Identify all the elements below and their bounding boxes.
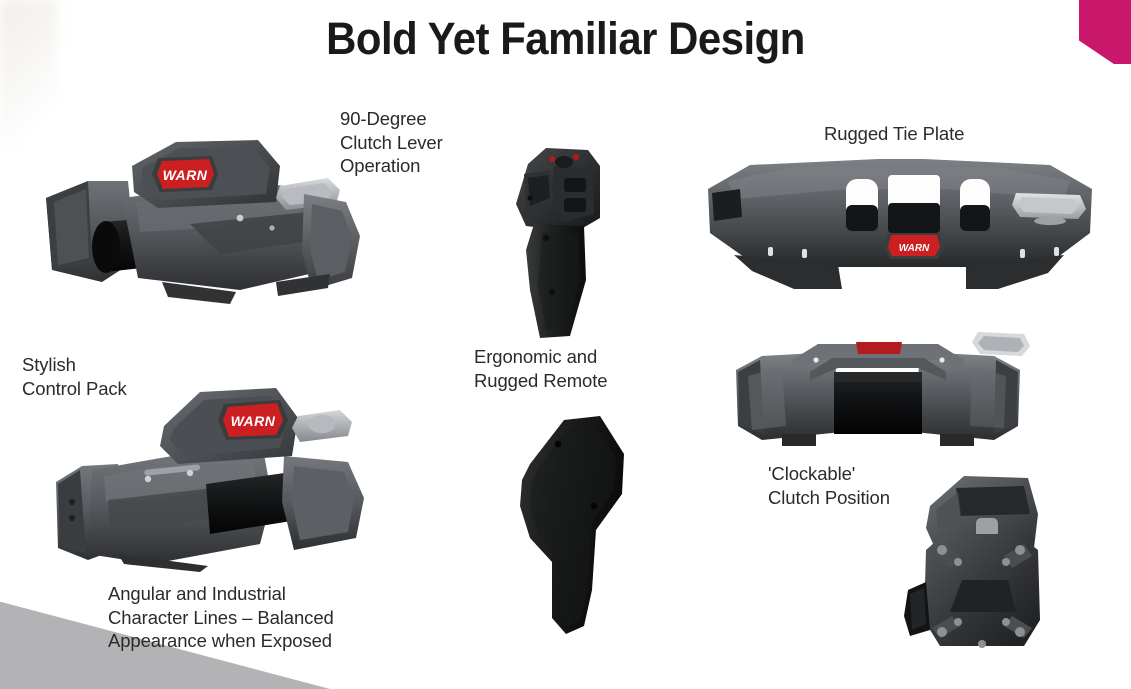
page-title: Bold Yet Familiar Design	[40, 8, 1092, 70]
winch-front-view-image	[722, 330, 1034, 450]
caption-clockable-clutch: 'Clockable' Clutch Position	[768, 462, 890, 509]
warn-badge: WARN	[884, 233, 944, 259]
warn-badge: WARN	[152, 156, 218, 192]
svg-text:WARN: WARN	[231, 413, 276, 429]
caption-character-lines: Angular and Industrial Character Lines –…	[108, 582, 334, 653]
winch-three-quarter-view-image: WARN	[40, 132, 385, 327]
tie-plate-top-view-image: WARN	[698, 155, 1103, 295]
svg-text:WARN: WARN	[899, 243, 930, 254]
remote-grip-shell-image	[500, 412, 640, 640]
slide-canvas: Bold Yet Familiar Design	[0, 0, 1131, 689]
winch-control-pack-view-image: WARN	[48, 378, 388, 573]
caption-control-pack: Stylish Control Pack	[22, 353, 127, 400]
handheld-remote-image	[500, 140, 628, 340]
caption-tie-plate: Rugged Tie Plate	[824, 122, 964, 146]
caption-remote: Ergonomic and Rugged Remote	[474, 345, 607, 392]
clutch-end-view-image	[900, 470, 1060, 662]
warn-badge: WARN	[218, 400, 288, 440]
svg-text:WARN: WARN	[163, 167, 208, 183]
caption-clutch-lever: 90-Degree Clutch Lever Operation	[340, 107, 443, 178]
